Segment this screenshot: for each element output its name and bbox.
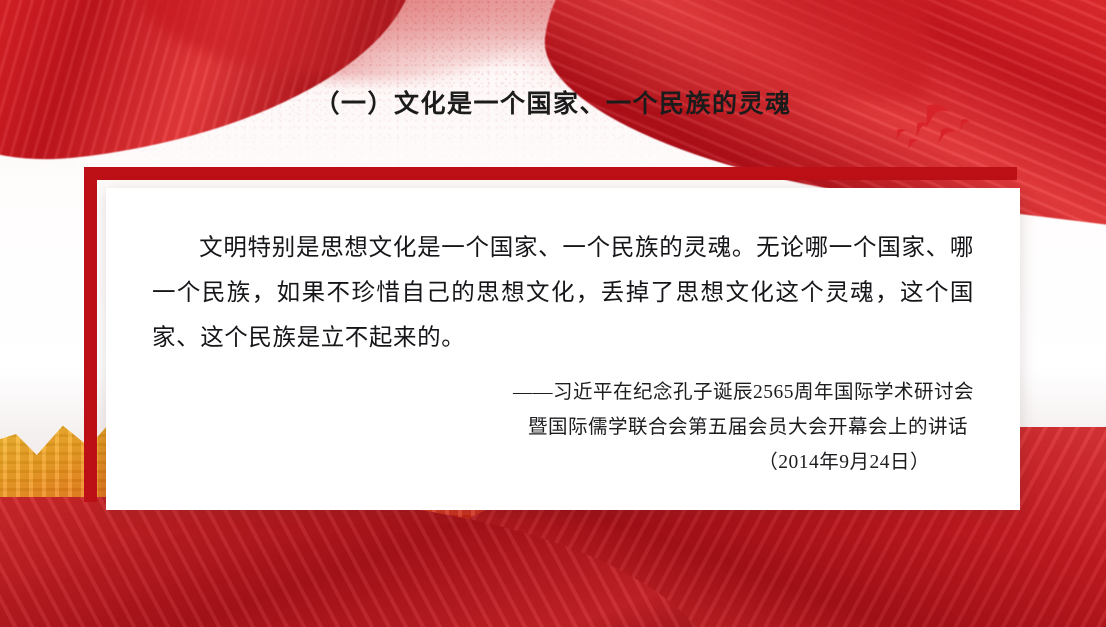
attribution-date: （2014年9月24日）: [152, 445, 974, 480]
quote-card: 文明特别是思想文化是一个国家、一个民族的灵魂。无论哪一个国家、哪一个民族，如果不…: [106, 188, 1020, 510]
quote-line-1: 文明特别是思想文化是一个国家、一个民族的灵魂。无论哪一个: [199, 235, 877, 261]
page-title: （一）文化是一个国家、一个民族的灵魂: [0, 84, 1106, 120]
slide-canvas: （一）文化是一个国家、一个民族的灵魂 文明特别是思想文化是一个国家、一个民族的灵…: [0, 0, 1106, 627]
attribution-line-2: 暨国际儒学联合会第五届会员大会开幕会上的讲话: [152, 410, 974, 445]
quote-text: 文明特别是思想文化是一个国家、一个民族的灵魂。无论哪一个国家、哪一个民族，如果不…: [152, 226, 974, 361]
quote-attribution: ——习近平在纪念孔子诞辰2565周年国际学术研讨会 暨国际儒学联合会第五届会员大…: [152, 375, 974, 480]
attribution-line-1: ——习近平在纪念孔子诞辰2565周年国际学术研讨会: [152, 375, 974, 410]
